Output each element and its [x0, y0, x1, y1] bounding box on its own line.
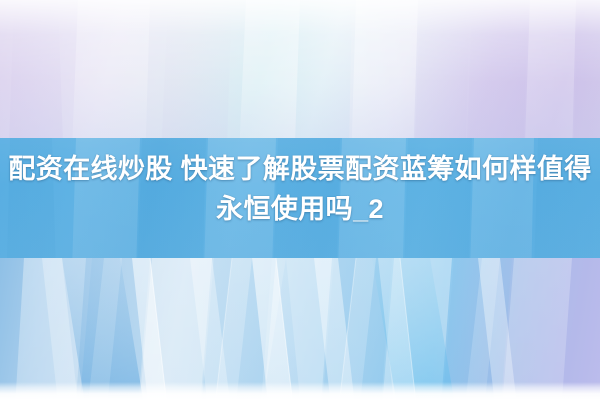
top-wedge-zone	[0, 0, 600, 138]
banner-headline: 配资在线炒股 快速了解股票配资蓝筹如何样值得永恒使用吗_2	[0, 149, 600, 229]
bottom-white-fade	[0, 382, 600, 400]
top-zone-white-fade	[0, 0, 600, 138]
bottom-lattice-shapes	[0, 258, 600, 400]
bottom-lattice-zone	[0, 258, 600, 400]
decorative-banner: 配资在线炒股 快速了解股票配资蓝筹如何样值得永恒使用吗_2	[0, 0, 600, 400]
